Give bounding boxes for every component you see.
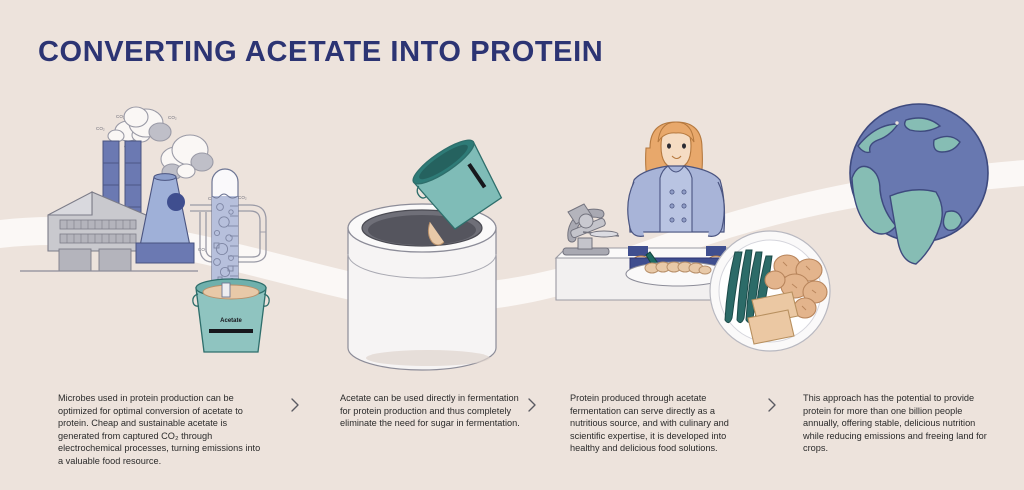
step-1-caption: Microbes used in protein production can … <box>58 392 263 468</box>
svg-text:CO₂: CO₂ <box>168 115 177 120</box>
chevron-right-icon <box>288 396 302 414</box>
chevron-right-icon <box>525 396 539 414</box>
bread-slices <box>748 292 798 344</box>
globe-illustration <box>850 104 988 264</box>
acetate-bucket-illustration: Acetate <box>193 279 269 352</box>
captions-row: Microbes used in protein production can … <box>0 392 1024 490</box>
svg-text:CO₂: CO₂ <box>116 114 125 119</box>
infographic-root: CONVERTING ACETATE INTO PROTEIN CO₂ CO₂ <box>0 0 1024 490</box>
bucket-stripe <box>209 329 253 333</box>
microscope-illustration <box>563 204 619 255</box>
svg-text:CO₂: CO₂ <box>238 195 247 200</box>
food-plate-illustration <box>710 231 830 351</box>
step-3-caption: Protein produced through acetate ferment… <box>570 392 750 455</box>
svg-text:CO₂: CO₂ <box>96 126 105 131</box>
fermentation-tank-illustration <box>348 204 496 370</box>
bucket-label: Acetate <box>220 318 242 324</box>
chevron-right-icon <box>765 396 779 414</box>
step-2-caption: Acetate can be used directly in fermenta… <box>340 392 520 430</box>
step-4-caption: This approach has the potential to provi… <box>803 392 993 455</box>
illustration-layer: CO₂ CO₂ CO₂ CO₂ CO₂ CO₂ CO₂ <box>0 0 1024 400</box>
